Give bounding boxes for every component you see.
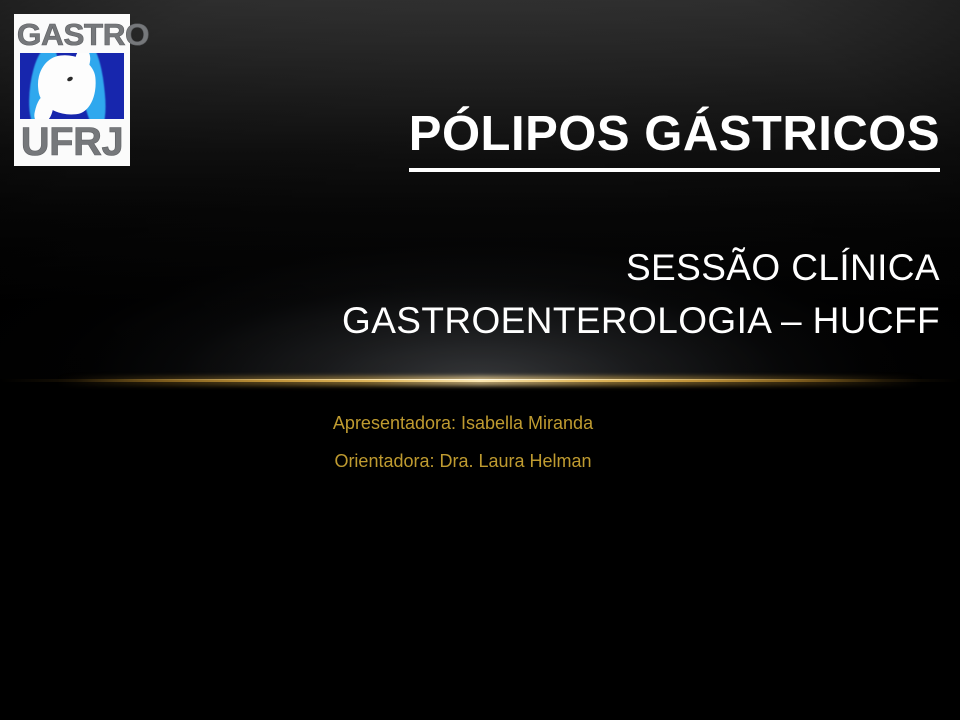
stomach-icon (20, 53, 124, 119)
title-slide: GASTRO UFRJ PÓLIPOS GÁSTRICOS SESSÃO CLÍ… (0, 0, 960, 720)
subtitle-line-1: SESSÃO CLÍNICA (100, 242, 940, 295)
credits-container: Apresentadora: Isabella Miranda Orientad… (163, 414, 763, 470)
page-title: PÓLIPOS GÁSTRICOS (409, 110, 940, 172)
presenter-line: Apresentadora: Isabella Miranda (163, 414, 763, 432)
subtitle-container: SESSÃO CLÍNICA GASTROENTEROLOGIA – HUCFF (100, 242, 940, 347)
logo-word-gastro: GASTRO (17, 19, 127, 50)
title-container: PÓLIPOS GÁSTRICOS (150, 110, 940, 172)
gastro-ufrj-logo: GASTRO UFRJ (14, 14, 130, 166)
logo-word-ufrj: UFRJ (18, 122, 126, 162)
subtitle-line-2: GASTROENTEROLOGIA – HUCFF (100, 295, 940, 348)
advisor-line: Orientadora: Dra. Laura Helman (163, 452, 763, 470)
